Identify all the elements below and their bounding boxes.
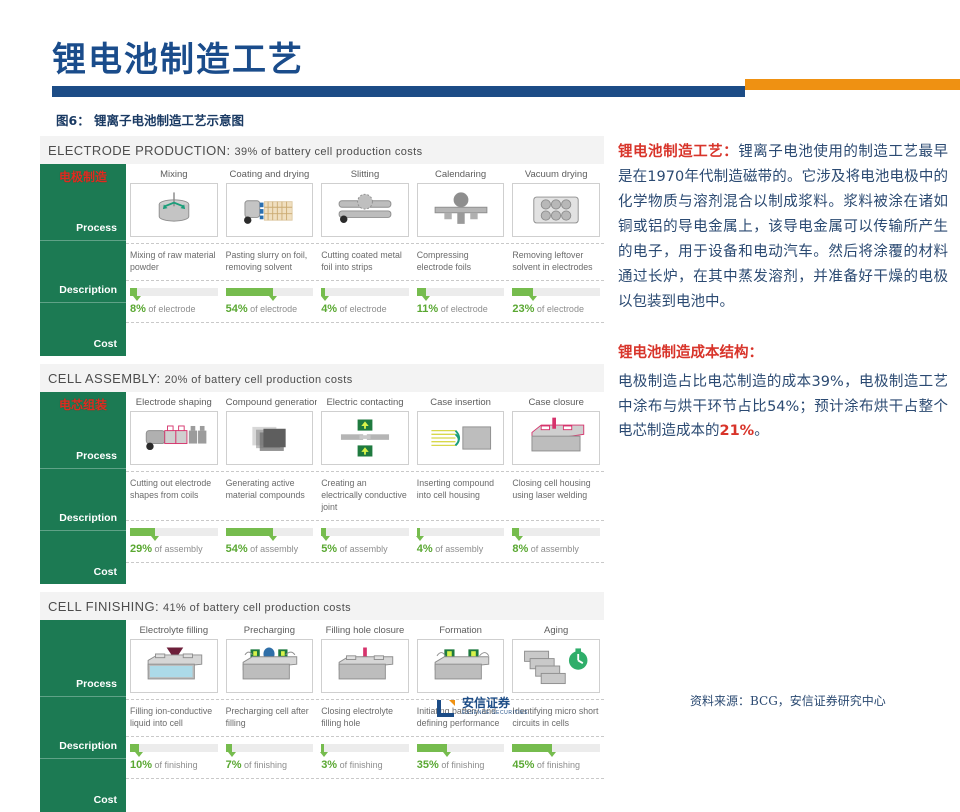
row-label-description: Description bbox=[40, 240, 126, 302]
cost-bar-track bbox=[226, 288, 314, 296]
cost-bar-marker bbox=[322, 536, 330, 541]
coating-roller-icon bbox=[226, 183, 314, 237]
cost-bar-fill bbox=[512, 528, 519, 536]
logo-name-cn: 安信证券 bbox=[462, 697, 528, 709]
step-name-row: Electrode shapingCompound generationElec… bbox=[126, 392, 604, 411]
step-description: Pasting slurry on foil, removing solvent bbox=[222, 244, 318, 280]
cost-bar-marker bbox=[548, 752, 556, 757]
step-cost: 4% of electrode bbox=[317, 281, 413, 322]
paragraph-cost: 电极制造占比电芯制造的成本39%，电极制造工艺中涂布与烘干环节占比54%；预计涂… bbox=[618, 370, 948, 445]
step-name: Vacuum drying bbox=[508, 164, 604, 183]
cost-bar-marker bbox=[515, 536, 523, 541]
cost-label: 4% of assembly bbox=[417, 543, 505, 555]
step-name: Formation bbox=[413, 620, 509, 639]
cost-row: 10% of finishing7% of finishing3% of fin… bbox=[126, 737, 604, 779]
case-insertion-icon bbox=[417, 411, 505, 465]
step-cost: 3% of finishing bbox=[317, 737, 413, 778]
cost-label: 8% of electrode bbox=[130, 303, 218, 315]
cost-bar-track bbox=[417, 528, 505, 536]
step-name: Aging bbox=[508, 620, 604, 639]
step-cost: 29% of assembly bbox=[126, 521, 222, 562]
cost-bar-marker bbox=[422, 296, 430, 301]
cost-bar-fill bbox=[226, 744, 232, 752]
section-name: CELL ASSEMBLY: bbox=[48, 371, 165, 386]
logo-name-en: ESSENCE SECURITIES bbox=[462, 711, 528, 716]
cost-label: 4% of electrode bbox=[321, 303, 409, 315]
stacked-sheets-icon bbox=[226, 411, 314, 465]
step-name: Calendaring bbox=[413, 164, 509, 183]
cost-bar-fill bbox=[130, 528, 155, 536]
section-share: 41% of battery cell production costs bbox=[163, 602, 351, 614]
step-description: Removing leftover solvent in electrodes bbox=[508, 244, 604, 280]
step-name-row: Electrolyte fillingPrechargingFilling ho… bbox=[126, 620, 604, 639]
paragraph-process-lead: 锂电池制造工艺： bbox=[618, 144, 738, 160]
cost-bar-fill bbox=[417, 744, 448, 752]
step-name: Compound generation bbox=[222, 392, 318, 411]
cost-bar-track bbox=[512, 288, 600, 296]
description-row: Filling ion-conductive liquid into cellP… bbox=[126, 699, 604, 737]
cost-bar-track bbox=[226, 528, 314, 536]
step-name: Electrolyte filling bbox=[126, 620, 222, 639]
process-icon-row bbox=[126, 639, 604, 699]
row-label-description: Description bbox=[40, 468, 126, 530]
step-description: Precharging cell after filling bbox=[222, 700, 318, 736]
paragraph-process: 锂电池制造工艺：锂离子电池使用的制造工艺最早是在1970年代制造磁带的。它涉及将… bbox=[618, 140, 948, 315]
step-name: Case insertion bbox=[413, 392, 509, 411]
cost-bar-marker bbox=[320, 752, 328, 757]
cost-label: 54% of electrode bbox=[226, 303, 314, 315]
right-text-column: 锂电池制造工艺：锂离子电池使用的制造工艺最早是在1970年代制造磁带的。它涉及将… bbox=[618, 140, 948, 444]
cost-bar-track bbox=[130, 288, 218, 296]
row-label-process: Process bbox=[40, 620, 126, 696]
process-cell bbox=[413, 411, 509, 471]
cost-bar-fill bbox=[512, 288, 532, 296]
step-name: Electric contacting bbox=[317, 392, 413, 411]
step-cost: 10% of finishing bbox=[126, 737, 222, 778]
process-cell bbox=[222, 183, 318, 243]
cost-label: 3% of finishing bbox=[321, 759, 409, 771]
step-description: Mixing of raw material powder bbox=[126, 244, 222, 280]
process-cell bbox=[222, 639, 318, 699]
step-cost: 35% of finishing bbox=[413, 737, 509, 778]
process-icon-row bbox=[126, 183, 604, 243]
section-electrode-production: ELECTRODE PRODUCTION: 39% of battery cel… bbox=[40, 136, 604, 356]
electrode-stamping-icon bbox=[130, 411, 218, 465]
hole-seal-icon bbox=[321, 639, 409, 693]
step-cost: 7% of finishing bbox=[222, 737, 318, 778]
process-cell bbox=[317, 639, 413, 699]
step-description: Inserting compound into cell housing bbox=[413, 472, 509, 520]
vacuum-chamber-icon bbox=[512, 183, 600, 237]
process-cell bbox=[413, 183, 509, 243]
cost-bar-track bbox=[417, 288, 505, 296]
process-cell bbox=[508, 183, 604, 243]
cost-bar-fill bbox=[226, 288, 273, 296]
section-cell-assembly: CELL ASSEMBLY: 20% of battery cell produ… bbox=[40, 364, 604, 584]
process-icon-row bbox=[126, 411, 604, 471]
cost-bar-marker bbox=[269, 536, 277, 541]
step-cost: 54% of electrode bbox=[222, 281, 318, 322]
step-description: Compressing electrode foils bbox=[413, 244, 509, 280]
paragraph-cost-body-b: 。 bbox=[754, 423, 769, 439]
paragraph-cost-highlight: 21% bbox=[720, 423, 755, 439]
logo-mark-icon bbox=[437, 700, 457, 714]
cost-bar-marker bbox=[443, 752, 451, 757]
section-title: CELL ASSEMBLY: 20% of battery cell produ… bbox=[40, 364, 604, 392]
step-name: Filling hole closure bbox=[317, 620, 413, 639]
cost-label: 29% of assembly bbox=[130, 543, 218, 555]
step-description: Filling ion-conductive liquid into cell bbox=[126, 700, 222, 736]
cost-label: 23% of electrode bbox=[512, 303, 600, 315]
electrolyte-funnel-icon bbox=[130, 639, 218, 693]
step-cost: 8% of electrode bbox=[126, 281, 222, 322]
steps-grid: MixingCoating and dryingSlittingCalendar… bbox=[126, 164, 604, 356]
cost-label: 5% of assembly bbox=[321, 543, 409, 555]
section-chinese-overlay: 电芯组装 bbox=[40, 396, 126, 413]
section-title: ELECTRODE PRODUCTION: 39% of battery cel… bbox=[40, 136, 604, 164]
cost-bar-marker bbox=[228, 752, 236, 757]
process-cell bbox=[126, 639, 222, 699]
precharge-probe-icon bbox=[226, 639, 314, 693]
cost-bar-fill bbox=[417, 288, 427, 296]
cost-label: 11% of electrode bbox=[417, 303, 505, 315]
row-label-cost: Cost bbox=[40, 758, 126, 812]
cost-bar-marker bbox=[321, 296, 329, 301]
cost-bar-fill bbox=[321, 288, 325, 296]
cost-label: 8% of assembly bbox=[512, 543, 600, 555]
cost-bar-track bbox=[321, 288, 409, 296]
section-body: 电芯组装ProcessDescriptionCostElectrode shap… bbox=[40, 392, 604, 584]
cost-row: 29% of assembly54% of assembly5% of asse… bbox=[126, 521, 604, 563]
step-name: Case closure bbox=[508, 392, 604, 411]
process-cell bbox=[317, 183, 413, 243]
cost-label: 35% of finishing bbox=[417, 759, 505, 771]
description-row: Cutting out electrode shapes from coilsG… bbox=[126, 471, 604, 521]
cost-bar-fill bbox=[130, 744, 139, 752]
mixing-tank-icon bbox=[130, 183, 218, 237]
cost-bar-track bbox=[417, 744, 505, 752]
row-label-panel: 电极制造ProcessDescriptionCost bbox=[40, 164, 126, 356]
company-logo: 安信证券 ESSENCE SECURITIES bbox=[437, 697, 528, 716]
cost-bar-track bbox=[512, 744, 600, 752]
cost-label: 10% of finishing bbox=[130, 759, 218, 771]
cost-bar-fill bbox=[130, 288, 137, 296]
formation-contacts-icon bbox=[417, 639, 505, 693]
step-cost: 11% of electrode bbox=[413, 281, 509, 322]
step-description: Closing electrolyte filling hole bbox=[317, 700, 413, 736]
step-description: Generating active material compounds bbox=[222, 472, 318, 520]
section-share: 20% of battery cell production costs bbox=[165, 374, 353, 386]
row-label-cost: Cost bbox=[40, 302, 126, 356]
section-share: 39% of battery cell production costs bbox=[234, 146, 422, 158]
cost-bar-fill bbox=[321, 528, 325, 536]
process-cell bbox=[413, 639, 509, 699]
paragraph-cost-heading: 锂电池制造成本结构： bbox=[618, 341, 948, 362]
process-cell bbox=[126, 411, 222, 471]
aging-stopwatch-icon bbox=[512, 639, 600, 693]
row-label-panel: 电芯组装ProcessDescriptionCost bbox=[40, 392, 126, 584]
description-row: Mixing of raw material powderPasting slu… bbox=[126, 243, 604, 281]
section-body: 电极制造ProcessDescriptionCostMixingCoating … bbox=[40, 164, 604, 356]
process-cell bbox=[126, 183, 222, 243]
cost-bar-marker bbox=[135, 752, 143, 757]
steps-grid: Electrolyte fillingPrechargingFilling ho… bbox=[126, 620, 604, 812]
cost-bar-marker bbox=[269, 296, 277, 301]
cost-bar-track bbox=[130, 744, 218, 752]
steps-grid: Electrode shapingCompound generationElec… bbox=[126, 392, 604, 584]
section-title: CELL FINISHING: 41% of battery cell prod… bbox=[40, 592, 604, 620]
row-label-cost: Cost bbox=[40, 530, 126, 584]
cost-bar-marker bbox=[151, 536, 159, 541]
slitting-blade-icon bbox=[321, 183, 409, 237]
row-label-description: Description bbox=[40, 696, 126, 758]
step-description: Creating an electrically conductive join… bbox=[317, 472, 413, 520]
process-cell bbox=[317, 411, 413, 471]
step-cost: 45% of finishing bbox=[508, 737, 604, 778]
step-description: Closing cell housing using laser welding bbox=[508, 472, 604, 520]
calender-press-icon bbox=[417, 183, 505, 237]
cost-bar-fill bbox=[417, 528, 421, 536]
source-note: 资料来源：BCG，安信证券研究中心 bbox=[690, 692, 886, 709]
laser-welding-icon bbox=[512, 411, 600, 465]
step-description: Cutting coated metal foil into strips bbox=[317, 244, 413, 280]
cost-bar-track bbox=[512, 528, 600, 536]
step-name: Mixing bbox=[126, 164, 222, 183]
cost-bar-fill bbox=[512, 744, 551, 752]
step-description: Cutting out electrode shapes from coils bbox=[126, 472, 222, 520]
header-rule-orange bbox=[745, 79, 960, 90]
cost-label: 7% of finishing bbox=[226, 759, 314, 771]
figure-caption: 图6： 锂离子电池制造工艺示意图 bbox=[56, 110, 244, 129]
cost-bar-fill bbox=[226, 528, 273, 536]
step-cost: 4% of assembly bbox=[413, 521, 509, 562]
step-cost: 5% of assembly bbox=[317, 521, 413, 562]
cost-label: 45% of finishing bbox=[512, 759, 600, 771]
welding-contacts-icon bbox=[321, 411, 409, 465]
section-body: ProcessDescriptionCostElectrolyte fillin… bbox=[40, 620, 604, 812]
section-name: ELECTRODE PRODUCTION: bbox=[48, 143, 234, 158]
row-label-panel: ProcessDescriptionCost bbox=[40, 620, 126, 812]
paragraph-process-body: 锂离子电池使用的制造工艺最早是在1970年代制造磁带的。它涉及将电池电极中的化学… bbox=[618, 144, 948, 310]
cost-bar-track bbox=[321, 528, 409, 536]
page-title: 锂电池制造工艺 bbox=[52, 32, 304, 81]
cost-row: 8% of electrode54% of electrode4% of ele… bbox=[126, 281, 604, 323]
cost-bar-track bbox=[226, 744, 314, 752]
step-name: Slitting bbox=[317, 164, 413, 183]
cost-bar-marker bbox=[133, 296, 141, 301]
process-cell bbox=[508, 411, 604, 471]
cost-bar-track bbox=[130, 528, 218, 536]
cost-bar-marker bbox=[416, 536, 424, 541]
section-chinese-overlay: 电极制造 bbox=[40, 168, 126, 185]
step-name: Precharging bbox=[222, 620, 318, 639]
step-name: Coating and drying bbox=[222, 164, 318, 183]
cost-bar-fill bbox=[321, 744, 324, 752]
process-chart-panel: ELECTRODE PRODUCTION: 39% of battery cel… bbox=[40, 136, 604, 692]
step-cost: 54% of assembly bbox=[222, 521, 318, 562]
step-name: Electrode shaping bbox=[126, 392, 222, 411]
process-cell bbox=[508, 639, 604, 699]
header-rule-blue bbox=[52, 86, 745, 97]
paragraph-cost-body-a: 电极制造占比电芯制造的成本39%，电极制造工艺中涂布与烘干环节占比54%；预计涂… bbox=[618, 374, 948, 440]
step-cost: 8% of assembly bbox=[508, 521, 604, 562]
step-cost: 23% of electrode bbox=[508, 281, 604, 322]
cost-label: 54% of assembly bbox=[226, 543, 314, 555]
process-cell bbox=[222, 411, 318, 471]
cost-bar-marker bbox=[529, 296, 537, 301]
cost-bar-track bbox=[321, 744, 409, 752]
step-name-row: MixingCoating and dryingSlittingCalendar… bbox=[126, 164, 604, 183]
section-name: CELL FINISHING: bbox=[48, 599, 163, 614]
